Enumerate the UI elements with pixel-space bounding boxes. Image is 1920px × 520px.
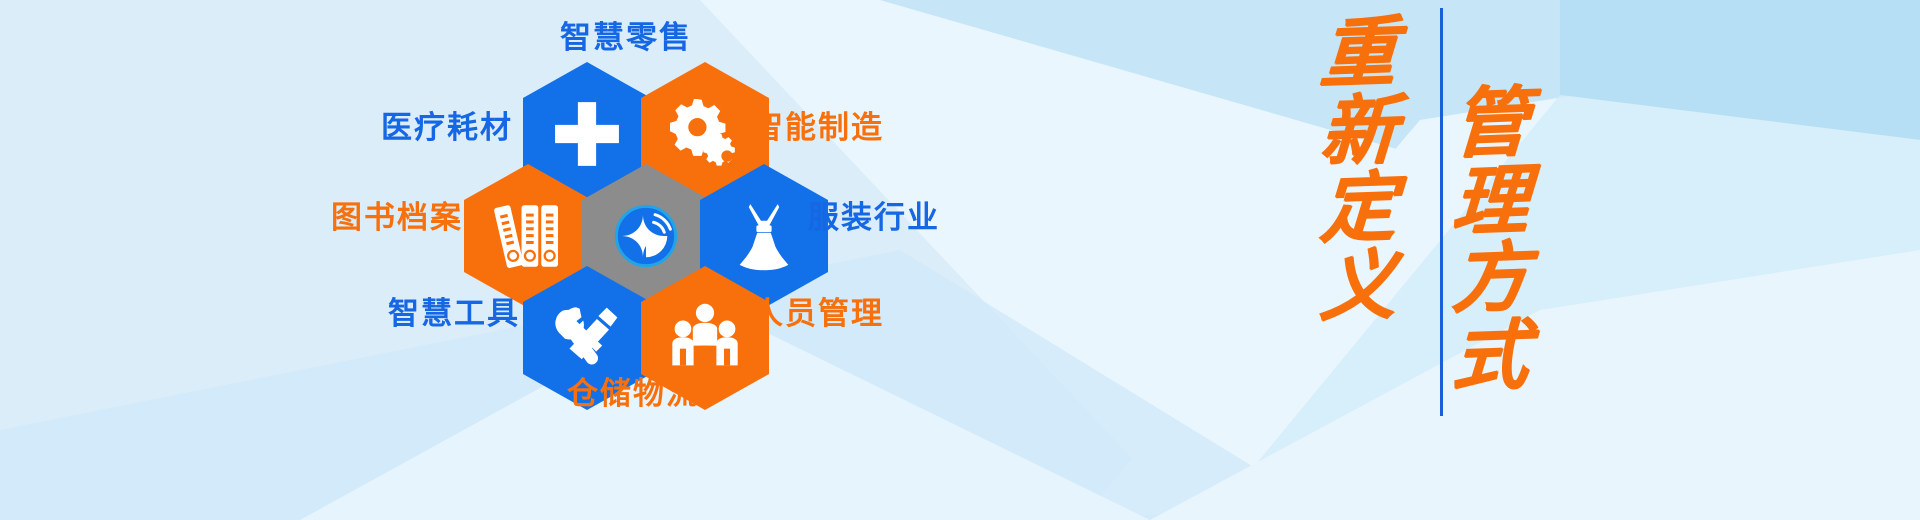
label-smart-tools: 智慧工具	[388, 288, 520, 333]
slogan-char: 重	[1318, 13, 1398, 93]
slogan-char: 方	[1450, 238, 1530, 318]
label-warehouse-logistics: 仓储物流	[567, 368, 699, 413]
label-people-management: 人员管理	[752, 288, 884, 333]
label-smart-retail: 智慧零售	[560, 12, 692, 57]
promo-banner: 智慧零售 医疗耗材 智能制造 图书档案 服装行业 智慧工具 人员管理 仓储物流 …	[0, 0, 1920, 520]
slogan-char: 理	[1450, 160, 1530, 240]
slogan-column-left: 重 新 定 义	[1320, 14, 1396, 324]
medical-cross-icon	[549, 96, 625, 172]
dress-icon	[726, 198, 802, 274]
label-smart-manufacturing: 智能制造	[752, 102, 884, 147]
slogan-column-right: 管 理 方 式	[1452, 84, 1528, 394]
slogan-divider	[1440, 8, 1443, 416]
binders-icon	[490, 198, 566, 274]
slogan-char: 式	[1450, 315, 1530, 395]
label-apparel-industry: 服装行业	[808, 192, 940, 237]
slogan-char: 新	[1318, 90, 1398, 170]
slogan-block: 重 新 定 义 管 理 方 式	[1280, 0, 1620, 520]
wrench-screwdriver-icon	[549, 300, 625, 376]
label-medical-consumables: 医疗耗材	[381, 102, 513, 147]
gears-icon	[667, 96, 743, 172]
rfid-logo-icon	[608, 198, 684, 274]
slogan-char: 义	[1318, 245, 1398, 325]
slogan-char: 定	[1318, 168, 1398, 248]
slogan-char: 管	[1450, 83, 1530, 163]
background-decoration	[0, 0, 1920, 520]
label-books-archive: 图书档案	[331, 192, 463, 237]
people-group-icon	[667, 300, 743, 376]
